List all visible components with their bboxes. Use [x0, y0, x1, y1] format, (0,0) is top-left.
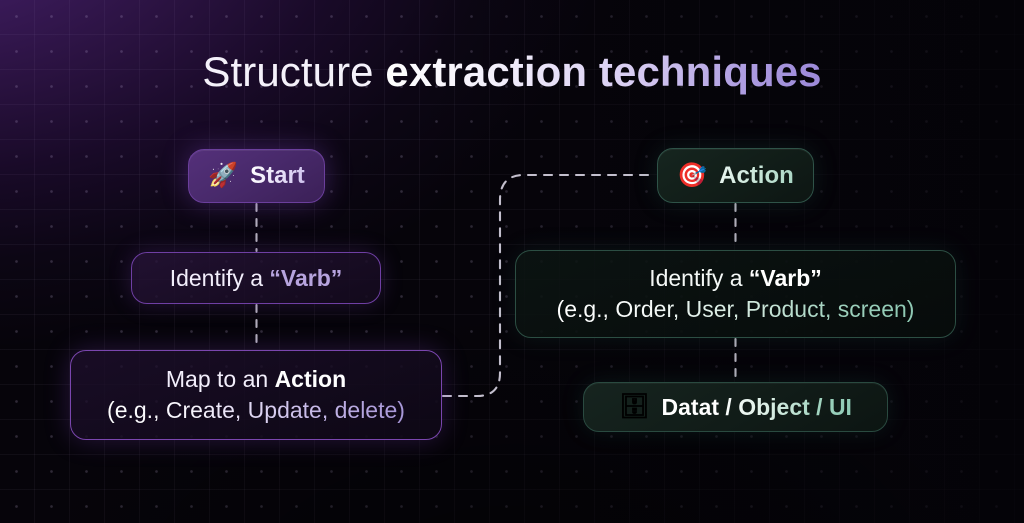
node-action[interactable]: 🎯 Action	[657, 148, 814, 203]
node-identify-noun-line1: Identify a “Varb”	[649, 263, 822, 294]
node-map-to-action-prefix: Map to an	[166, 366, 275, 392]
database-icon: 🗄	[619, 395, 649, 419]
node-data-object-ui-label: Datat / Object / UI	[662, 394, 852, 421]
page-title-light: Structure	[202, 48, 385, 95]
node-start-label: Start	[250, 162, 305, 190]
node-identify-noun-line2: (e.g., Order, User, Product, screen)	[557, 294, 915, 325]
node-identify-verb-accent: “Varb”	[269, 265, 342, 291]
node-identify-noun[interactable]: Identify a “Varb” (e.g., Order, User, Pr…	[515, 250, 956, 338]
node-identify-noun-prefix: Identify a	[649, 265, 749, 291]
node-data-object-ui[interactable]: 🗄 Datat / Object / UI	[583, 382, 888, 432]
node-identify-noun-accent: “Varb”	[749, 265, 822, 291]
node-map-to-action-line1: Map to an Action	[166, 364, 346, 395]
page-title-bold: extraction techniques	[385, 48, 821, 95]
page-title: Structure extraction techniques	[0, 46, 1024, 98]
node-action-label: Action	[719, 162, 794, 190]
node-identify-verb[interactable]: Identify a “Varb”	[131, 252, 381, 304]
node-identify-verb-label: Identify a “Varb”	[170, 265, 343, 292]
node-map-to-action[interactable]: Map to an Action (e.g., Create, Update, …	[70, 350, 442, 440]
node-map-to-action-line2: (e.g., Create, Update, delete)	[107, 395, 405, 426]
node-start[interactable]: 🚀 Start	[188, 149, 325, 203]
node-identify-verb-prefix: Identify a	[170, 265, 270, 291]
node-map-to-action-accent: Action	[275, 366, 347, 392]
rocket-icon: 🚀	[208, 164, 238, 188]
target-cursor-icon: 🎯	[677, 164, 707, 188]
diagram-canvas: Structure extraction techniques 🚀 Start …	[0, 0, 1024, 523]
